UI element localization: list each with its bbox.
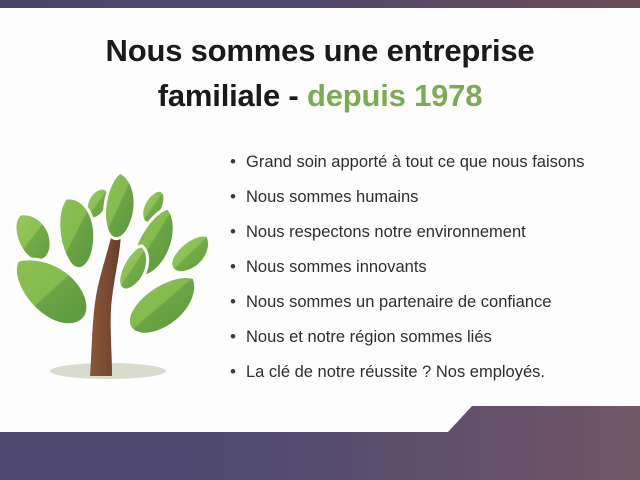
bullet-marker-icon: • (230, 220, 246, 244)
leaf-top-center (105, 172, 136, 239)
slide-canvas: Nous sommes une entreprise familiale - d… (0, 0, 640, 480)
leaf-inner-right (119, 246, 148, 290)
list-item-label: Grand soin apporté à tout ce que nous fa… (246, 150, 584, 174)
headline-accent-since-1978: depuis 1978 (307, 78, 482, 113)
value-proposition-list: • Grand soin apporté à tout ce que nous … (230, 150, 630, 395)
leaf-lower-right (128, 276, 195, 334)
page-title: Nous sommes une entreprise familiale - d… (0, 28, 640, 118)
list-item: • Nous respectons notre environnement (230, 220, 630, 255)
leaf-upper-far-left (15, 214, 51, 261)
leaf-far-right (171, 235, 210, 273)
list-item: • Nous sommes innovants (230, 255, 630, 290)
footer-angled-shape (0, 406, 640, 480)
bullet-marker-icon: • (230, 360, 246, 384)
headline-line-2: familiale - depuis 1978 (0, 73, 640, 118)
bullet-marker-icon: • (230, 290, 246, 314)
list-item: • Nous sommes humains (230, 185, 630, 220)
list-item-label: Nous respectons notre environnement (246, 220, 526, 244)
list-item-label: Nous sommes un partenaire de confiance (246, 290, 551, 314)
footer-band: tabor-automobiles.fr (0, 400, 640, 480)
list-item: • Nous sommes un partenaire de confiance (230, 290, 630, 325)
bullet-marker-icon: • (230, 325, 246, 349)
bullet-marker-icon: • (230, 255, 246, 279)
bullet-marker-icon: • (230, 185, 246, 209)
list-item: • Nous et notre région sommes liés (230, 325, 630, 360)
top-accent-bar (0, 0, 640, 8)
list-item: • La clé de notre réussite ? Nos employé… (230, 360, 630, 395)
list-item-label: Nous sommes humains (246, 185, 418, 209)
tree-trunk (90, 231, 121, 376)
bullet-marker-icon: • (230, 150, 246, 174)
list-item-label: Nous sommes innovants (246, 255, 427, 279)
list-item-label: La clé de notre réussite ? Nos employés. (246, 360, 545, 384)
headline-line-1: Nous sommes une entreprise (106, 33, 535, 68)
tree-illustration (8, 150, 213, 390)
list-item-label: Nous et notre région sommes liés (246, 325, 492, 349)
list-item: • Grand soin apporté à tout ce que nous … (230, 150, 630, 185)
headline-line-2-plain: familiale - (158, 78, 307, 113)
